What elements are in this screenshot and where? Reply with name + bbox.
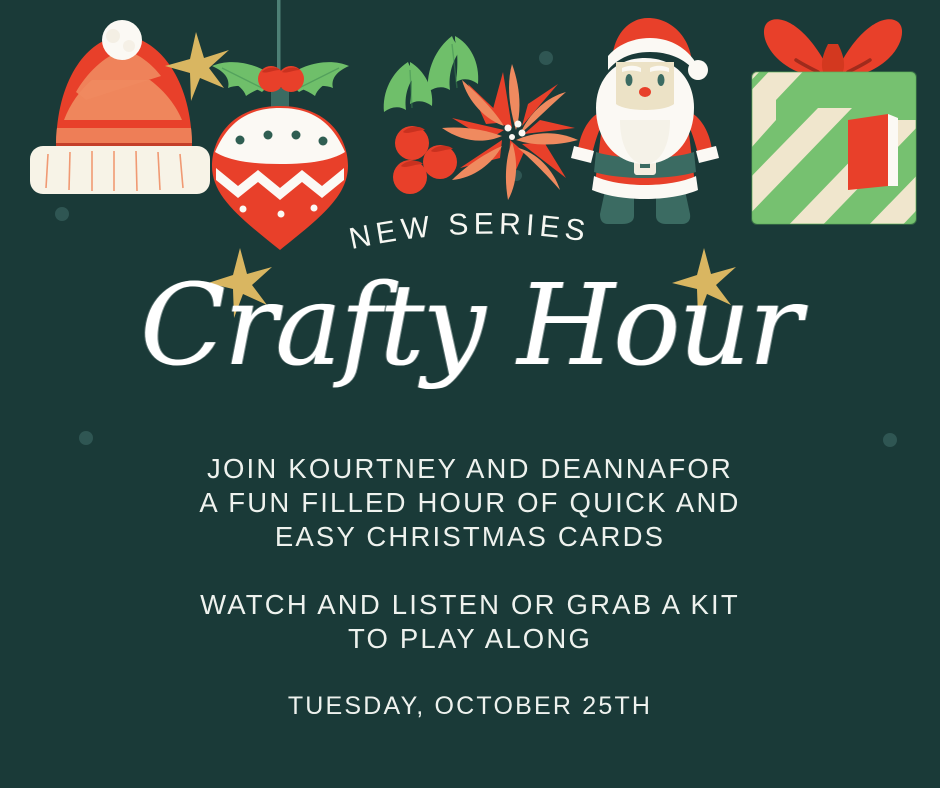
description-block-2: WATCH AND LISTEN OR GRAB A KIT TO PLAY A… (0, 588, 940, 656)
description-line: JOIN KOURTNEY AND DEANNAFOR (0, 452, 940, 486)
poster-text: NEW SERIES Crafty Hour JOIN KOURTNEY AND… (0, 0, 940, 788)
description-line: WATCH AND LISTEN OR GRAB A KIT (0, 588, 940, 622)
poster-canvas: NEW SERIES Crafty Hour JOIN KOURTNEY AND… (0, 0, 940, 788)
eyebrow-label: NEW SERIES (0, 206, 940, 262)
description-line: EASY CHRISTMAS CARDS (0, 520, 940, 554)
event-date: TUESDAY, OCTOBER 25TH (0, 690, 940, 722)
eyebrow-text: NEW SERIES (346, 208, 592, 256)
description-line: A FUN FILLED HOUR OF QUICK AND (0, 486, 940, 520)
page-title: Crafty Hour (0, 268, 940, 386)
event-date-line: TUESDAY, OCTOBER 25TH (0, 690, 940, 722)
description-line: TO PLAY ALONG (0, 622, 940, 656)
description-block-1: JOIN KOURTNEY AND DEANNAFOR A FUN FILLED… (0, 452, 940, 554)
